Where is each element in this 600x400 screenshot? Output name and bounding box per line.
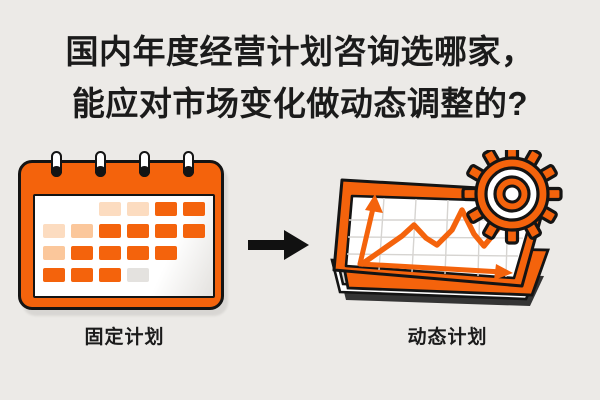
calendar-cell [99,224,121,238]
calendar-page [33,194,215,298]
calendar-cell [43,246,65,260]
right-arrow-icon [248,228,310,262]
headline-line-1: 国内年度经营计划咨询选哪家， [0,26,600,78]
calendar-cell [99,246,121,260]
page-title: 国内年度经营计划咨询选哪家， 能应对市场变化做动态调整的? [0,26,600,130]
dynamic-plan-caption: 动态计划 [345,322,550,349]
calendar-cell [155,202,177,216]
calendar-cell [71,224,93,238]
calendar-cell [71,268,93,282]
calendar-cell-grid [43,202,213,294]
calendar-cell [155,224,177,238]
fixed-plan-caption: 固定计划 [22,322,227,349]
calendar-cell [127,268,149,282]
calendar-cell [43,268,65,282]
calendar-cell [183,202,205,216]
calendar-cell [99,202,121,216]
poster-canvas: 国内年度经营计划咨询选哪家， 能应对市场变化做动态调整的? 固定计划 [0,0,600,400]
calendar-cell [99,268,121,282]
calendar-cell [71,246,93,260]
calendar-ring-icon [51,151,62,177]
calendar-cell [127,246,149,260]
calendar-ring-icon [95,151,106,177]
calendar-cell [155,246,177,260]
calendar-body [18,160,224,310]
calendar-cell [43,224,65,238]
calendar-ring-icon [183,151,194,177]
calendar-ring-icon [139,151,150,177]
calendar-cell [127,224,149,238]
headline-line-2: 能应对市场变化做动态调整的? [0,78,600,130]
dynamic-plan-chart-icon [316,150,578,320]
calendar-cell [127,202,149,216]
fixed-calendar-icon [18,160,230,315]
calendar-cell [183,224,205,238]
